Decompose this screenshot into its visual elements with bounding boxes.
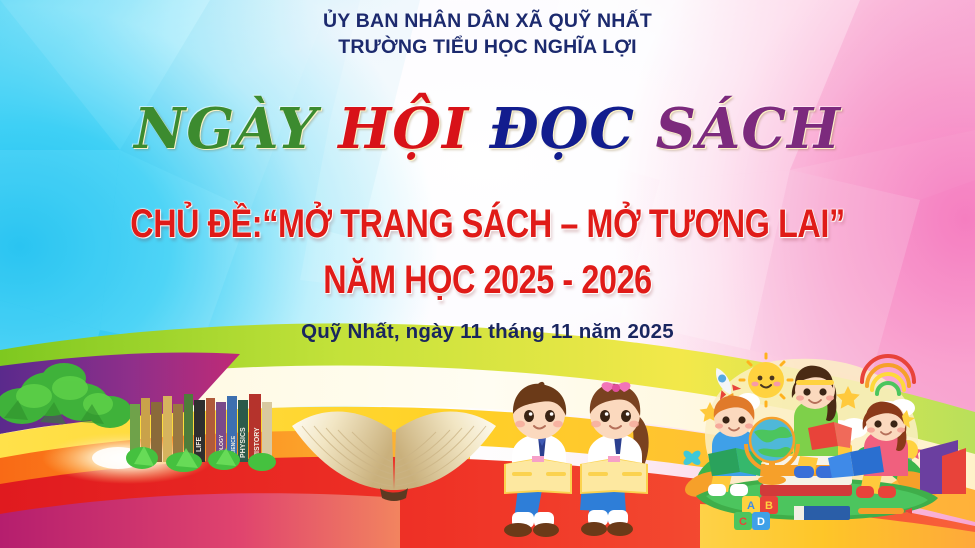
date-place-line: Quỹ Nhất, ngày 11 tháng 11 năm 2025: [0, 320, 975, 344]
title-word-ngay: NGÀY: [134, 96, 318, 162]
school-line: TRƯỜNG TIỂU HỌC NGHĨA LỢI: [0, 34, 975, 60]
theme-block: CHỦ ĐỀ:“MỞ TRANG SÁCH – MỞ TƯƠNG LAI” NĂ…: [0, 198, 975, 298]
school-year: NĂM HỌC 2025 - 2026: [24, 254, 950, 306]
title-word-doc: ĐỌC: [490, 96, 635, 162]
page-title: NGÀY HỘI ĐỌC SÁCH: [0, 96, 975, 162]
theme-slogan: CHỦ ĐỀ:“MỞ TRANG SÁCH – MỞ TƯƠNG LAI”: [24, 198, 950, 250]
authority-line: ỦY BAN NHÂN DÂN XÃ QUỸ NHẤT: [0, 8, 975, 34]
organization-header: ỦY BAN NHÂN DÂN XÃ QUỸ NHẤT TRƯỜNG TIỂU …: [0, 8, 975, 60]
title-word-sach: SÁCH: [655, 96, 840, 162]
title-word-hoi: HỘI: [338, 96, 469, 162]
text-content-layer: ỦY BAN NHÂN DÂN XÃ QUỸ NHẤT TRƯỜNG TIỂU …: [0, 0, 975, 548]
event-banner: LIFE PHYSICS HISTORY BIOLOGY SCIENCE: [0, 0, 975, 548]
